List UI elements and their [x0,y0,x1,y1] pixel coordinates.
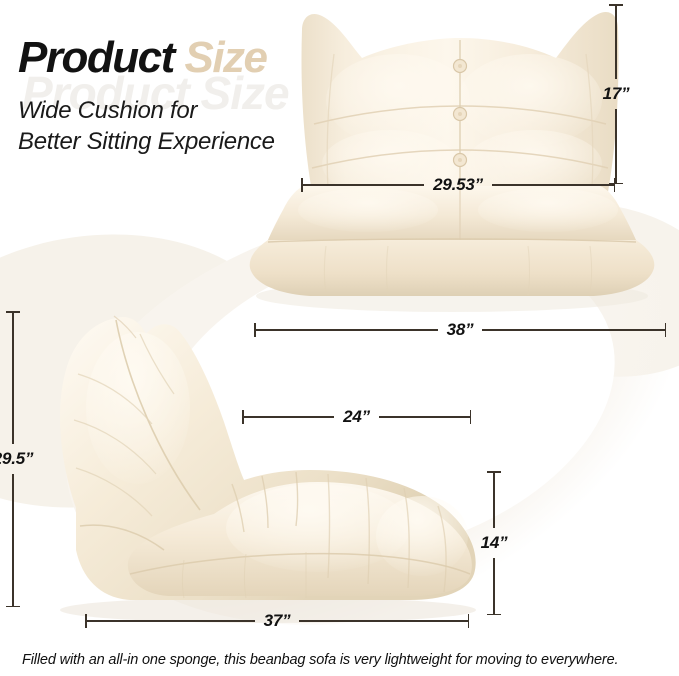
page-title: Product Size [18,36,318,80]
dimension-rule [482,329,664,330]
dimension-cap-bottom [487,614,501,616]
dimension-side-seat-depth: 24” [242,409,471,425]
dimension-label-38in: 38” [438,320,483,340]
title-word-product: Product [18,33,174,82]
dimension-side-seat-height: 14” [464,471,524,615]
dimension-rule [492,184,614,185]
footer-caption: Filled with an all-in one sponge, this b… [22,652,667,668]
dimension-front-total-width: 38” [254,322,666,338]
dimension-rule [12,474,13,606]
dimension-front-back-height: 17” [586,4,646,184]
dimension-side-back-height: 29.5” [0,311,43,607]
dimension-rule [299,620,467,621]
dimension-label-295in: 29.5” [0,444,33,474]
dimension-rule [615,6,616,80]
headline-block: Product Size Product Size Wide Cushion f… [18,36,318,157]
dimension-rule [256,329,438,330]
dimension-rule [379,416,470,417]
dimension-rule [87,620,255,621]
dimension-cap-bottom [6,606,20,608]
dimension-front-seat-width: 29.53” [301,177,615,193]
dimension-rule [615,109,616,183]
dimension-rule [12,313,13,445]
dimension-label-37in: 37” [255,611,300,631]
dimension-cap-right [470,410,472,424]
subtitle-line-2: Better Sitting Experience [18,127,318,158]
dimension-label-14in: 14” [481,528,508,558]
dimension-rule [303,184,425,185]
title-word-size: Size [184,33,266,82]
product-size-infographic: Product Size Product Size Wide Cushion f… [0,0,679,676]
dimension-label-24in: 24” [334,407,379,427]
dimension-rule [493,473,494,529]
dimension-label-2953in: 29.53” [424,175,492,195]
dimension-cap-right [614,178,616,192]
dimension-rule [244,416,335,417]
dimension-label-17in: 17” [603,79,630,109]
dimension-side-total-length: 37” [85,613,469,629]
subtitle: Wide Cushion for Better Sitting Experien… [18,96,318,157]
dimension-cap-right [665,323,667,337]
dimension-cap-right [468,614,470,628]
dimension-rule [493,558,494,614]
subtitle-line-1: Wide Cushion for [18,96,318,127]
